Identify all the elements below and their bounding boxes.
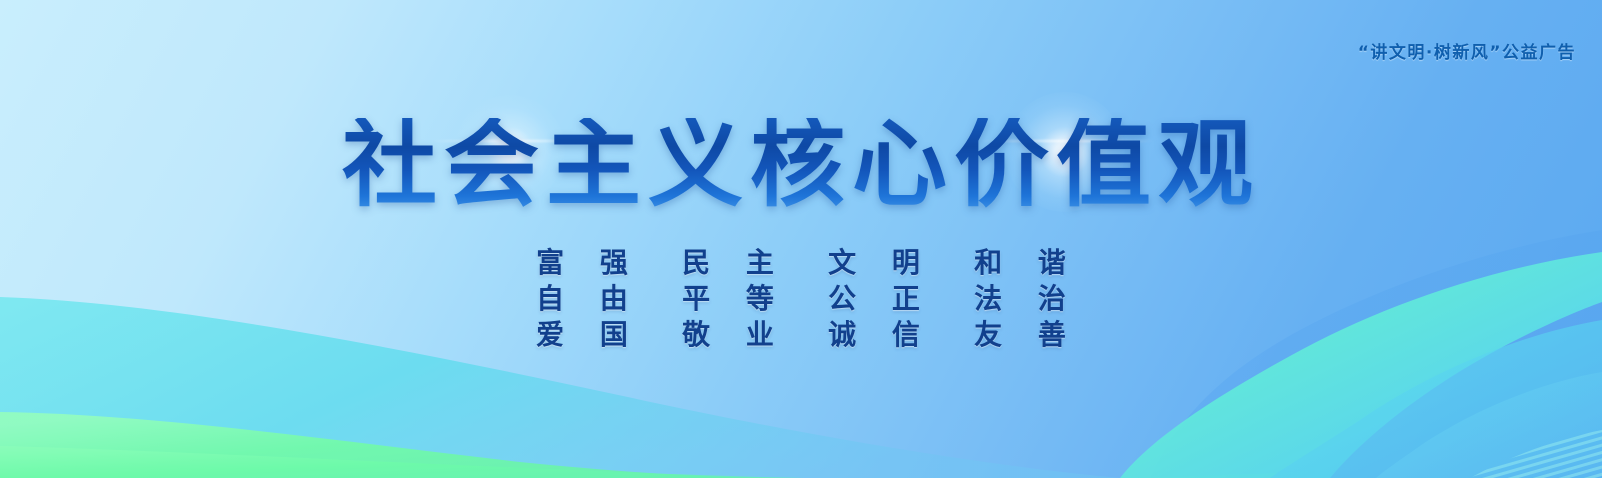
value-item: 爱 国 bbox=[509, 315, 655, 351]
page-title: 社会主义核心价值观 bbox=[0, 118, 1602, 213]
wave-right-cyan-thin bbox=[1376, 372, 1602, 478]
decorative-waves bbox=[0, 0, 1602, 478]
value-item: 富 强 bbox=[509, 243, 655, 279]
wave-left-green bbox=[0, 412, 780, 478]
value-item: 诚 信 bbox=[801, 315, 947, 351]
value-item: 民 主 bbox=[655, 243, 801, 279]
wave-right-stripes bbox=[1470, 430, 1602, 478]
core-values-block: 富 强 民 主 文 明 和 谐 自 由 平 等 公 正 法 治 爱 国 敬 业 … bbox=[0, 243, 1602, 351]
value-item: 平 等 bbox=[655, 279, 801, 315]
value-item: 和 谐 bbox=[947, 243, 1093, 279]
core-values-grid: 富 强 民 主 文 明 和 谐 自 由 平 等 公 正 法 治 爱 国 敬 业 … bbox=[509, 243, 1093, 351]
value-item: 友 善 bbox=[947, 315, 1093, 351]
value-item: 自 由 bbox=[509, 279, 655, 315]
campaign-tagline: “讲文明·树新风”公益广告 bbox=[1358, 38, 1576, 63]
value-item: 法 治 bbox=[947, 279, 1093, 315]
value-item: 文 明 bbox=[801, 243, 947, 279]
wave-bottom-green bbox=[0, 446, 1330, 478]
value-item: 公 正 bbox=[801, 279, 947, 315]
public-service-banner: “讲文明·树新风”公益广告 社会主义核心价值观 富 强 民 主 文 明 和 谐 … bbox=[0, 0, 1602, 478]
value-item: 敬 业 bbox=[655, 315, 801, 351]
